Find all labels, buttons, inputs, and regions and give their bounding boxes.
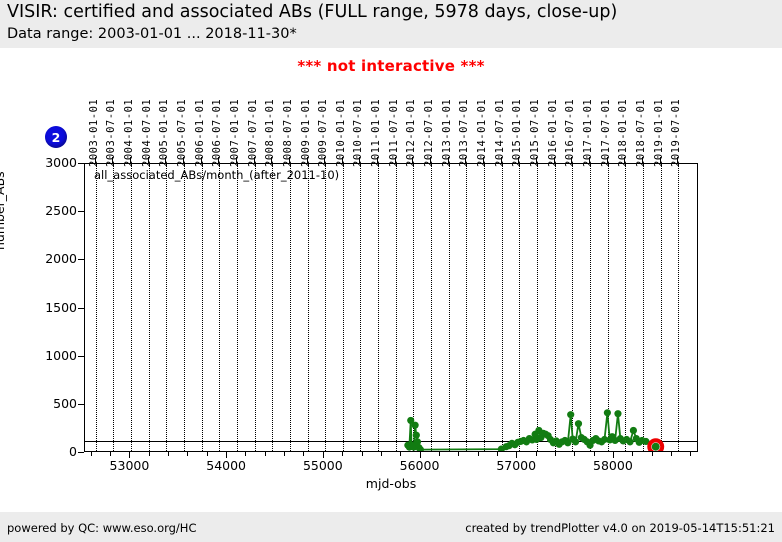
x-axis-tick-label: 56000 [400,458,440,473]
x-axis-minor-tick-mark [207,452,208,456]
y-axis-tick-label: 0 [17,444,77,459]
top-axis-date-label: 2003-01-01 [88,99,100,167]
top-axis-date-label: 2008-07-01 [282,99,294,167]
data-point [567,411,574,418]
top-axis-date-label: 2005-07-01 [176,99,188,167]
data-point [604,409,611,416]
top-axis-date-label: 2018-07-01 [635,99,647,167]
x-axis-minor-tick-mark [168,452,169,456]
panel-number-badge: 2 [45,126,67,148]
x-axis-minor-tick-mark [265,452,266,456]
data-series [85,164,697,451]
x-axis-minor-tick-mark [110,452,111,456]
page-title: VISIR: certified and associated ABs (FUL… [7,2,617,22]
x-axis-minor-tick-mark [478,452,479,456]
x-axis-minor-tick-mark [594,452,595,456]
y-axis-tick-label: 2500 [17,203,77,218]
data-point [630,427,637,434]
y-axis-label: number_ABs [0,171,7,250]
x-axis-minor-tick-mark [497,452,498,456]
x-axis-tick-mark [323,452,324,458]
x-axis-tick-mark [226,452,227,458]
y-axis-tick-mark [78,356,84,357]
y-axis-tick-mark [78,308,84,309]
x-axis-minor-tick-mark [574,452,575,456]
data-point [412,422,419,429]
x-axis-tick-label: 55000 [303,458,343,473]
y-axis-tick-label: 2000 [17,251,77,266]
data-range-subtitle: Data range: 2003-01-01 ... 2018-11-30* [7,26,297,42]
x-axis-minor-tick-mark [381,452,382,456]
top-axis-date-label: 2012-07-01 [423,99,435,167]
y-axis-tick-mark [78,452,84,453]
top-axis-date-label: 2010-07-01 [352,99,364,167]
x-axis-tick-mark [516,452,517,458]
x-axis-tick-mark [129,452,130,458]
y-axis-tick-mark [78,211,84,212]
data-point [614,410,621,417]
x-axis-minor-tick-mark [652,452,653,456]
top-axis-date-label: 2014-07-01 [494,99,506,167]
x-axis-minor-tick-mark [690,452,691,456]
top-axis-date-label: 2004-01-01 [123,99,135,167]
x-axis-minor-tick-mark [458,452,459,456]
x-axis-minor-tick-mark [555,452,556,456]
data-point [575,420,582,427]
x-axis-minor-tick-mark [671,452,672,456]
top-axis-date-label: 2013-07-01 [458,99,470,167]
x-axis-tick-mark [613,452,614,458]
top-axis-date-label: 2006-07-01 [211,99,223,167]
y-axis-tick-label: 1000 [17,348,77,363]
x-axis-minor-tick-mark [536,452,537,456]
x-axis-minor-tick-mark [149,452,150,456]
x-axis-minor-tick-mark [362,452,363,456]
top-axis-date-label: 2014-01-01 [476,99,488,167]
footer-credit-left: powered by QC: www.eso.org/HC [7,521,196,535]
x-axis-minor-tick-mark [632,452,633,456]
data-point [572,438,579,445]
y-axis-tick-label: 500 [17,396,77,411]
top-axis-date-label: 2010-01-01 [335,99,347,167]
top-axis-date-label: 2011-07-01 [388,99,400,167]
x-axis-tick-label: 57000 [496,458,536,473]
x-axis-tick-mark [420,452,421,458]
top-axis-date-label: 2018-01-01 [617,99,629,167]
top-axis-date-label: 2019-01-01 [653,99,665,167]
top-axis-date-label: 2016-01-01 [547,99,559,167]
top-axis-date-label: 2007-07-01 [247,99,259,167]
x-axis-minor-tick-mark [284,452,285,456]
x-axis-minor-tick-mark [400,452,401,456]
top-axis-date-label: 2011-01-01 [370,99,382,167]
x-axis-tick-label: 58000 [593,458,633,473]
top-axis-date-label: 2003-07-01 [105,99,117,167]
top-axis-date-label: 2005-01-01 [158,99,170,167]
x-axis-minor-tick-mark [342,452,343,456]
chart-plot-area: all_associated_ABs/month_(after_2011-10) [84,163,698,452]
top-axis-date-label: 2009-07-01 [317,99,329,167]
y-axis-tick-mark [78,404,84,405]
y-axis-tick-mark [78,163,84,164]
x-axis-label: mjd-obs [366,476,416,491]
x-axis-tick-label: 54000 [206,458,246,473]
top-axis-date-label: 2017-01-01 [582,99,594,167]
x-axis-minor-tick-mark [187,452,188,456]
top-axis-date-label: 2015-07-01 [529,99,541,167]
y-axis-tick-label: 3000 [17,155,77,170]
x-axis-minor-tick-mark [303,452,304,456]
x-axis-tick-label: 53000 [110,458,150,473]
top-axis-date-label: 2017-07-01 [600,99,612,167]
x-axis-minor-tick-mark [91,452,92,456]
top-axis-date-label: 2008-01-01 [264,99,276,167]
footer-credit-right: created by trendPlotter v4.0 on 2019-05-… [465,521,775,535]
data-point [626,438,633,445]
top-axis-date-label: 2015-01-01 [511,99,523,167]
top-axis-date-label: 2012-01-01 [405,99,417,167]
y-axis-tick-mark [78,259,84,260]
top-axis-date-label: 2019-07-01 [670,99,682,167]
y-axis-tick-label: 1500 [17,300,77,315]
top-axis-date-label: 2013-01-01 [441,99,453,167]
data-point [413,432,420,439]
last-data-point [652,443,660,451]
top-axis-date-label: 2007-01-01 [229,99,241,167]
x-axis-minor-tick-mark [439,452,440,456]
not-interactive-notice: *** not interactive *** [0,57,782,75]
top-axis-date-label: 2004-07-01 [141,99,153,167]
top-axis-date-label: 2009-01-01 [300,99,312,167]
x-axis-minor-tick-mark [245,452,246,456]
top-axis-date-label: 2006-01-01 [194,99,206,167]
top-axis-date-label: 2016-07-01 [564,99,576,167]
